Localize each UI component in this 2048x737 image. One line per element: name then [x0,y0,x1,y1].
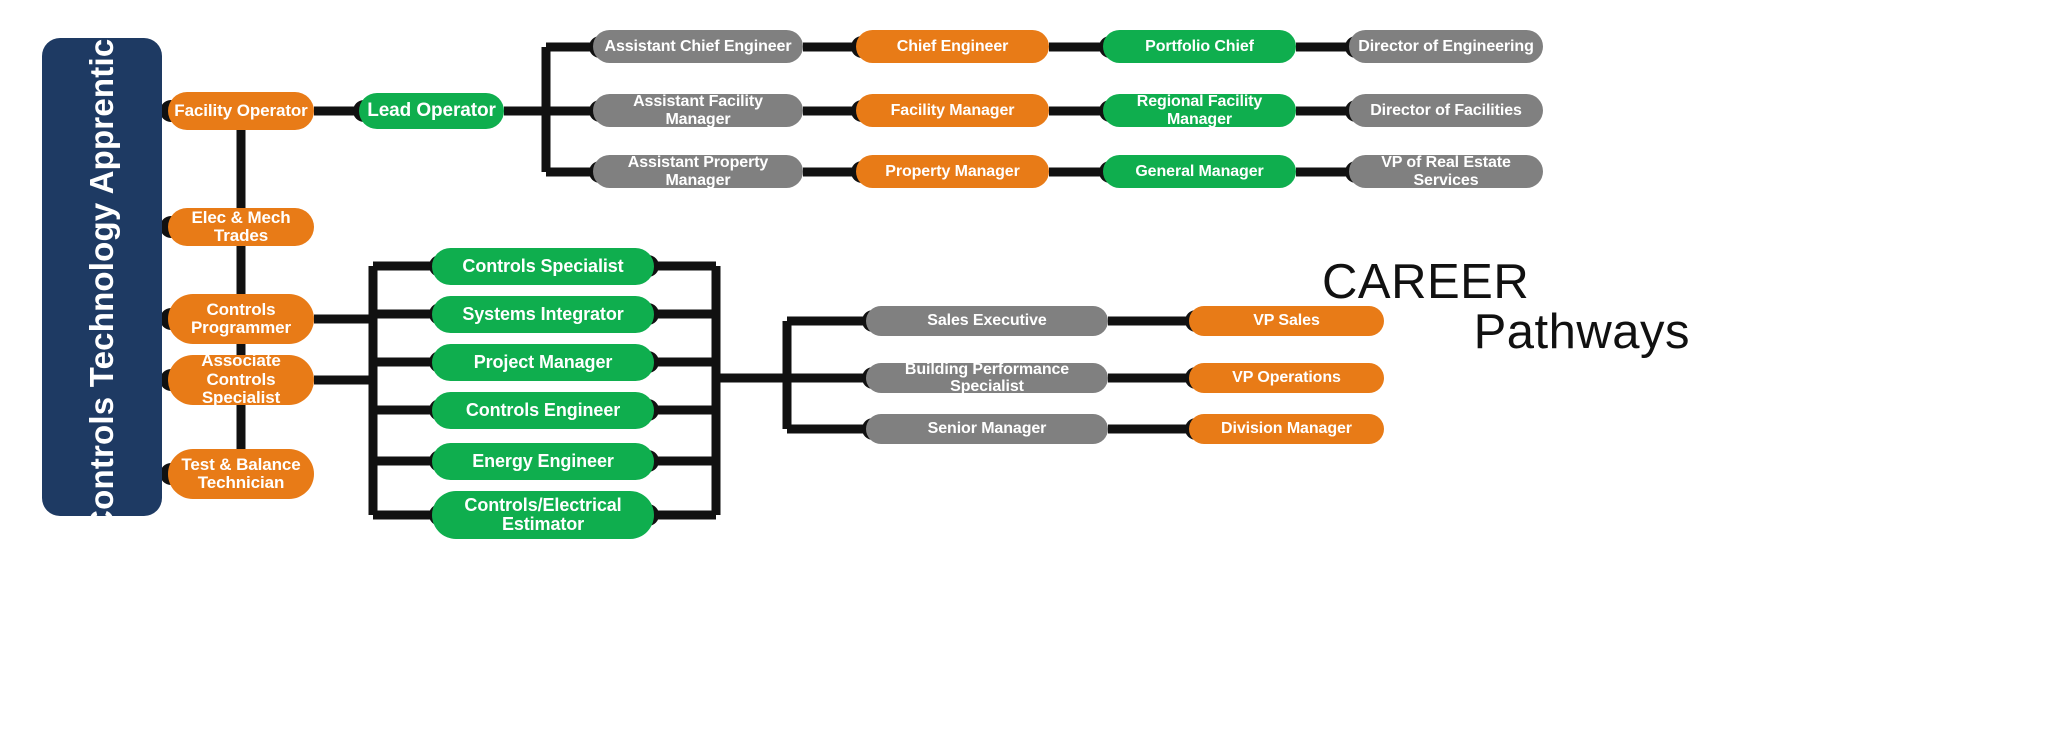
role-node-chief-engineer[interactable]: Chief Engineer [856,30,1049,63]
role-node-label: Associate Controls Specialist [174,352,308,407]
role-node-property-manager[interactable]: Property Manager [856,155,1049,188]
role-node-label: Building Performance Specialist [872,361,1102,396]
role-node-label: Elec & Mech Trades [174,209,308,246]
role-node-label: Division Manager [1221,420,1352,437]
career-pathways-diagram: Controls Technology Apprentice CAREER Pa… [0,0,2048,737]
role-node-facility-operator[interactable]: Facility Operator [168,92,314,130]
role-node-label: Director of Engineering [1358,38,1534,55]
page-title: CAREER Pathways [1312,258,1732,358]
role-node-label: Project Manager [474,353,613,372]
role-node-label: Facility Manager [891,102,1015,119]
role-node-label: Director of Facilities [1370,102,1522,119]
role-node-label: Regional Facility Manager [1109,93,1290,128]
role-node-label: Senior Manager [928,420,1047,437]
role-node-label: Assistant Property Manager [599,154,797,189]
role-node-label: VP Operations [1232,369,1341,386]
role-node-controls-electrical-estimator[interactable]: Controls/Electrical Estimator [432,491,654,539]
role-node-label: VP Sales [1253,312,1320,329]
page-title-line-2: Pathways [1312,307,1732,358]
role-node-division-manager[interactable]: Division Manager [1189,414,1384,444]
role-node-label: Sales Executive [927,312,1046,329]
role-node-label: Assistant Chief Engineer [605,38,792,55]
role-node-director-of-engineering[interactable]: Director of Engineering [1349,30,1543,63]
role-node-label: Lead Operator [367,101,496,122]
role-node-portfolio-chief[interactable]: Portfolio Chief [1103,30,1296,63]
role-node-label: Controls/Electrical Estimator [438,496,648,535]
role-node-label: Test & Balance Technician [174,456,308,493]
role-node-label: Property Manager [885,163,1019,180]
role-node-general-manager[interactable]: General Manager [1103,155,1296,188]
role-node-label: VP of Real Estate Services [1355,154,1537,189]
role-node-label: Assistant Facility Manager [599,93,797,128]
role-node-director-of-facilities[interactable]: Director of Facilities [1349,94,1543,127]
entry-node-controls-technology-apprentice[interactable]: Controls Technology Apprentice [42,38,162,516]
role-node-senior-manager[interactable]: Senior Manager [866,414,1108,444]
role-node-energy-engineer[interactable]: Energy Engineer [432,443,654,480]
role-node-label: Controls Engineer [466,401,620,420]
role-node-vp-of-real-estate-services[interactable]: VP of Real Estate Services [1349,155,1543,188]
role-node-controls-engineer[interactable]: Controls Engineer [432,392,654,429]
entry-node-label: Controls Technology Apprentice [83,20,121,534]
role-node-lead-operator[interactable]: Lead Operator [359,93,504,129]
role-node-assistant-property-manager[interactable]: Assistant Property Manager [593,155,803,188]
role-node-label: Portfolio Chief [1145,38,1254,55]
role-node-vp-operations[interactable]: VP Operations [1189,363,1384,393]
role-node-label: Systems Integrator [462,305,623,324]
role-node-controls-specialist[interactable]: Controls Specialist [432,248,654,285]
role-node-facility-manager[interactable]: Facility Manager [856,94,1049,127]
role-node-controls-programmer[interactable]: Controls Programmer [168,294,314,344]
role-node-label: Controls Specialist [462,257,623,276]
role-node-building-performance-specialist[interactable]: Building Performance Specialist [866,363,1108,393]
role-node-sales-executive[interactable]: Sales Executive [866,306,1108,336]
role-node-assistant-facility-manager[interactable]: Assistant Facility Manager [593,94,803,127]
role-node-project-manager[interactable]: Project Manager [432,344,654,381]
page-title-line-1: CAREER [1312,258,1732,307]
role-node-test-balance-technician[interactable]: Test & Balance Technician [168,449,314,499]
role-node-label: Energy Engineer [472,452,614,471]
role-node-label: Facility Operator [174,102,307,120]
role-node-systems-integrator[interactable]: Systems Integrator [432,296,654,333]
role-node-label: General Manager [1135,163,1263,180]
role-node-assistant-chief-engineer[interactable]: Assistant Chief Engineer [593,30,803,63]
role-node-regional-facility-manager[interactable]: Regional Facility Manager [1103,94,1296,127]
role-node-elec-mech-trades[interactable]: Elec & Mech Trades [168,208,314,246]
role-node-label: Controls Programmer [174,301,308,338]
role-node-associate-controls-specialist[interactable]: Associate Controls Specialist [168,355,314,405]
role-node-label: Chief Engineer [897,38,1009,55]
